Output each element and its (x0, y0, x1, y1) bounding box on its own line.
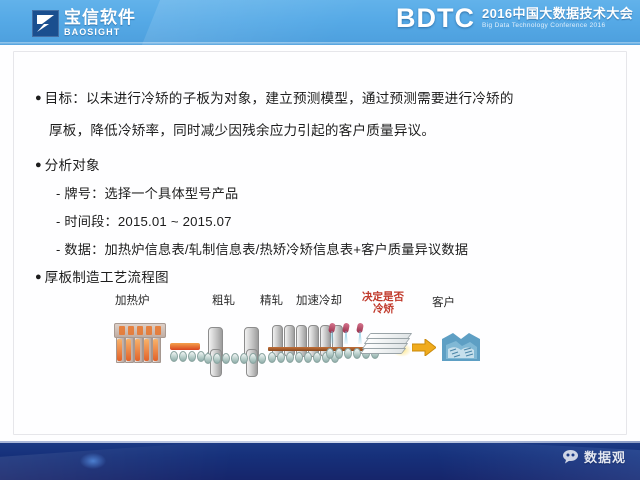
slide-footer: 数据观 (0, 441, 640, 480)
list-item: - 数据：加热炉信息表/轧制信息表/热矫冷矫信息表+客户质量异议数据 (56, 240, 468, 261)
slide-header: 宝信软件 BAOSIGHT BDTC 2016中国大数据技术大会 Big Dat… (0, 0, 640, 45)
diagram-plate-stack-graphic (362, 333, 408, 357)
speech-bubble-icon (562, 449, 579, 464)
flow-diagram-heading: ● 厚板制造工艺流程图 (35, 267, 169, 289)
analysis-item-brand: 牌号：选择一个具体型号产品 (64, 184, 238, 205)
watermark-text: 数据观 (584, 447, 626, 466)
logo-title-en: BAOSIGHT (64, 28, 136, 37)
watermark: 数据观 (562, 447, 626, 466)
diagram-label-rough-rolling: 粗轧 (212, 295, 235, 309)
diagram-label-furnace: 加热炉 (115, 295, 150, 309)
goal-bullet-line1: ● 目标：以未进行冷矫的子板为对象，建立预测模型，通过预测需要进行冷矫的 (35, 88, 514, 110)
goal-text-line2: 厚板，降低冷矫率，同时减少因残余应力引起的客户质量异议。 (49, 123, 435, 138)
analysis-object-title: 分析对象 (45, 155, 100, 177)
dash-marker: - (56, 212, 60, 233)
analysis-object-heading: ● 分析对象 (35, 155, 100, 177)
dash-marker: - (56, 240, 60, 261)
diagram-furnace-graphic (114, 323, 164, 363)
goal-bullet-line2: 厚板，降低冷矫率，同时减少因残余应力引起的客户质量异议。 (49, 120, 435, 142)
bullet-marker: ● (35, 160, 42, 171)
analysis-item-period: 时间段：2015.01 ~ 2015.07 (64, 212, 231, 233)
list-item: - 牌号：选择一个具体型号产品 (56, 184, 238, 205)
list-item: - 时间段：2015.01 ~ 2015.07 (56, 212, 232, 233)
bdtc-wordmark: BDTC (396, 5, 475, 32)
baosight-logo-text: 宝信软件 BAOSIGHT (64, 9, 136, 37)
flow-diagram-title: 厚板制造工艺流程图 (45, 267, 169, 289)
diagram-customer-handshake-icon (440, 331, 482, 365)
slide: 宝信软件 BAOSIGHT BDTC 2016中国大数据技术大会 Big Dat… (0, 0, 640, 480)
baosight-logo: 宝信软件 BAOSIGHT (32, 9, 136, 37)
footer-glow (80, 453, 106, 469)
diagram-label-accelerated-cooling: 加速冷却 (296, 295, 342, 309)
bdtc-title-en: Big Data Technology Conference 2016 (482, 23, 633, 30)
bdtc-subtitle-block: 2016中国大数据技术大会 Big Data Technology Confer… (482, 5, 633, 30)
dash-marker: - (56, 184, 60, 205)
bullet-marker: ● (35, 272, 42, 283)
diagram-label-decision-line1: 决定是否 (362, 291, 404, 303)
bullet-marker: ● (35, 93, 42, 104)
goal-text-line1: 目标：以未进行冷矫的子板为对象，建立预测模型，通过预测需要进行冷矫的 (45, 88, 514, 110)
diagram-label-customer: 客户 (432, 297, 455, 311)
diagram-label-finish-rolling: 精轧 (260, 295, 283, 309)
diagram-label-decision-line2: 冷矫 (373, 303, 394, 315)
analysis-item-data: 数据：加热炉信息表/轧制信息表/热矫冷矫信息表+客户质量异议数据 (64, 240, 468, 261)
slide-content: ● 目标：以未进行冷矫的子板为对象，建立预测模型，通过预测需要进行冷矫的 厚板，… (0, 45, 640, 441)
baosight-logo-mark-icon (32, 10, 59, 37)
process-flow-diagram: 加热炉 粗轧 精轧 加速冷却 决定是否 冷矫 客户 (100, 295, 530, 405)
bdtc-conference-branding: BDTC 2016中国大数据技术大会 Big Data Technology C… (396, 5, 633, 32)
footer-sheen-left (0, 441, 380, 480)
diagram-flow-arrow-icon (412, 339, 436, 356)
logo-title-cn: 宝信软件 (64, 9, 136, 26)
bdtc-title-cn: 2016中国大数据技术大会 (482, 7, 633, 20)
